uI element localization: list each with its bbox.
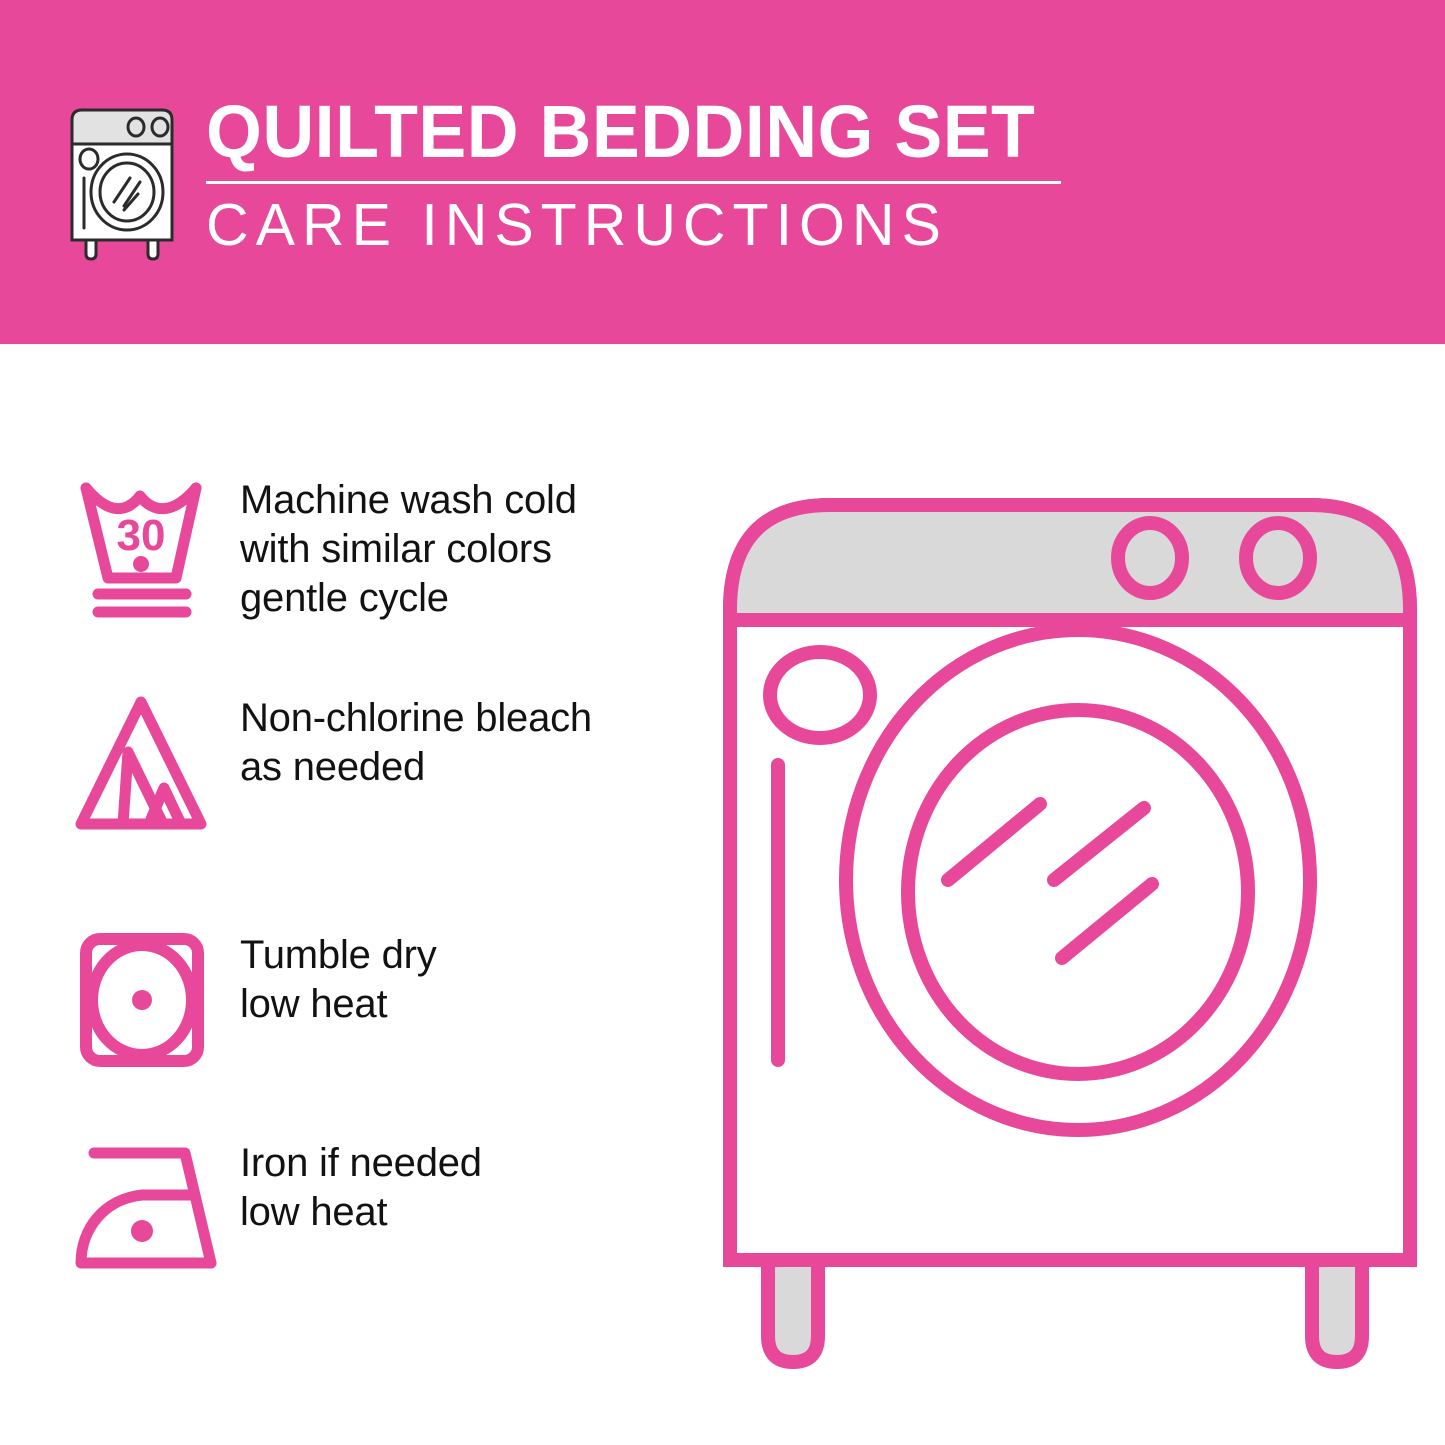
knob-right-icon[interactable] <box>1246 523 1310 593</box>
care-row-tumble-dry: Tumble dry low heat <box>60 925 700 1075</box>
door-inner-ring <box>908 710 1248 1074</box>
care-text-bleach: Non-chlorine bleach as needed <box>240 688 592 792</box>
page-title: QUILTED BEDDING SET <box>206 96 1035 167</box>
care-icon-wrapper <box>60 688 240 838</box>
care-row-machine-wash: 30 Machine wash cold with similar colors… <box>60 470 700 622</box>
care-icon-wrapper <box>60 1133 240 1283</box>
care-row-iron: Iron if needed low heat <box>60 1133 700 1283</box>
header-content: QUILTED BEDDING SET CARE INSTRUCTIONS <box>62 96 1061 262</box>
wash-dot-icon <box>133 556 149 572</box>
leg-right <box>1312 1260 1362 1362</box>
care-instructions-infographic: QUILTED BEDDING SET CARE INSTRUCTIONS <box>0 0 1445 1445</box>
wash-temperature-label: 30 <box>116 511 165 560</box>
tumble-dry-dot-icon <box>132 990 152 1010</box>
knob-left-icon[interactable] <box>1118 523 1182 593</box>
header-title-block: QUILTED BEDDING SET CARE INSTRUCTIONS <box>206 96 1061 255</box>
detergent-indicator-icon <box>770 652 870 738</box>
header-divider <box>206 181 1061 184</box>
care-text-iron: Iron if needed low heat <box>240 1133 482 1237</box>
wash-tub-30-icon: 30 <box>68 470 233 620</box>
washing-machine-illustration <box>700 460 1440 1380</box>
care-row-bleach: Non-chlorine bleach as needed <box>60 688 700 838</box>
care-text-machine-wash: Machine wash cold with similar colors ge… <box>240 470 577 622</box>
washing-machine-logo-icon <box>62 102 182 262</box>
care-text-tumble-dry: Tumble dry low heat <box>240 925 437 1029</box>
iron-icon <box>68 1133 233 1283</box>
header-band: QUILTED BEDDING SET CARE INSTRUCTIONS <box>0 0 1445 344</box>
tumble-dry-icon <box>68 925 233 1075</box>
care-icon-wrapper: 30 <box>60 470 240 620</box>
iron-dot-icon <box>131 1220 153 1242</box>
bleach-triangle-icon <box>68 688 233 838</box>
care-icon-wrapper <box>60 925 240 1075</box>
leg-left <box>768 1260 818 1362</box>
page-subtitle: CARE INSTRUCTIONS <box>206 196 1061 255</box>
